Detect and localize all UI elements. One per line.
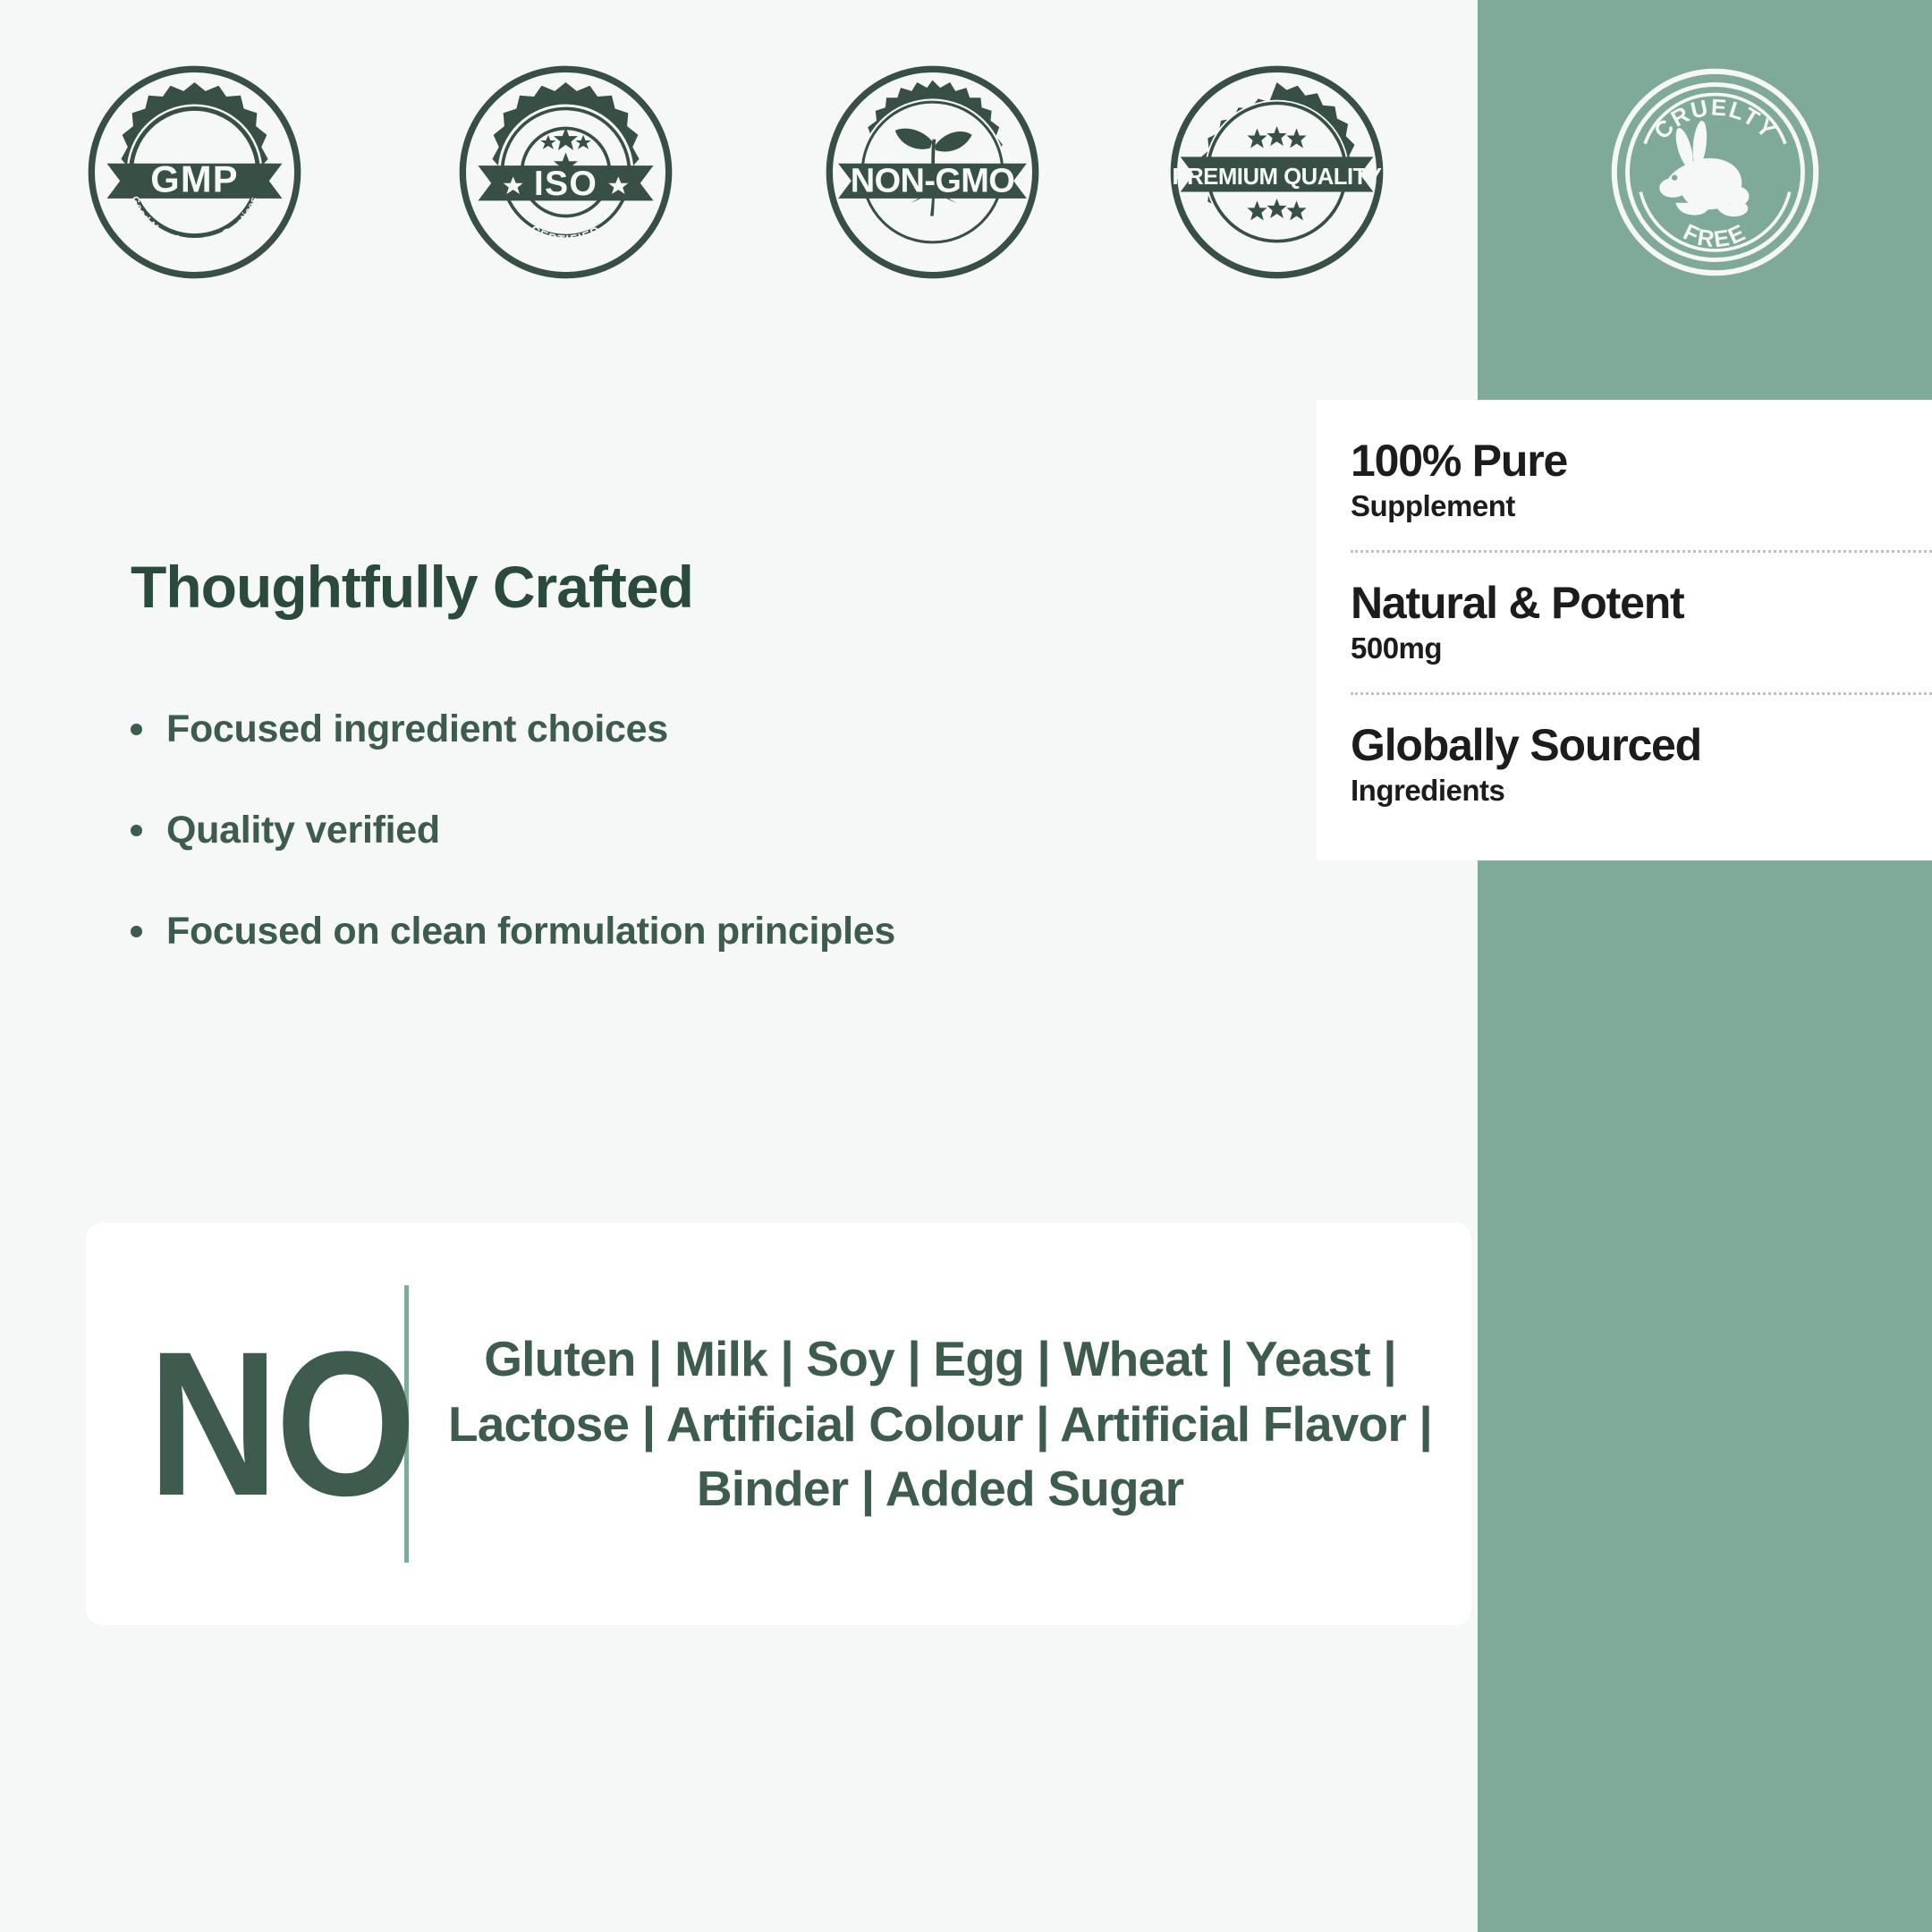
svg-text:CERTIFIED: CERTIFIED	[155, 208, 234, 223]
highlight-block-potency: Natural & Potent 500mg	[1351, 580, 1932, 665]
highlight-block-purity: 100% Pure Supplement	[1351, 437, 1932, 523]
highlight-title: Globally Sourced	[1351, 722, 1907, 769]
list-item-label: Quality verified	[166, 809, 440, 852]
page-title: Thoughtfully Crafted	[131, 555, 1383, 620]
iso-certified-seal-icon: ISO CERTIFIED	[456, 63, 675, 282]
badge-iso: ISO CERTIFIED	[456, 63, 675, 282]
cruelty-free-rabbit-seal-icon: CRUELTY FREE	[1606, 63, 1825, 282]
main-content-left: Thoughtfully Crafted Focused ingredient …	[131, 555, 1383, 1011]
svg-text:NON-GMO: NON-GMO	[851, 163, 1014, 200]
highlight-divider	[1351, 692, 1932, 695]
product-highlights-card: 100% Pure Supplement Natural & Potent 50…	[1317, 400, 1932, 860]
highlight-subtitle: Supplement	[1351, 488, 1907, 524]
certification-badge-row: GMP CERTIFIED Good Manufacturing Practic…	[0, 63, 1932, 295]
badge-gmp: GMP CERTIFIED Good Manufacturing Practic…	[85, 63, 304, 282]
premium-quality-seal-icon: PREMIUM QUALITY	[1167, 63, 1386, 282]
list-item-label: Focused on clean formulation principles	[166, 910, 895, 953]
list-item-label: Focused ingredient choices	[166, 708, 668, 751]
highlight-divider	[1351, 550, 1932, 553]
badge-non-gmo: NON-GMO	[823, 63, 1042, 282]
list-item: Quality verified	[131, 809, 1383, 852]
highlight-block-sourcing: Globally Sourced Ingredients	[1351, 722, 1932, 808]
excluded-ingredients-list: Gluten | Milk | Soy | Egg | Wheat | Yeas…	[409, 1326, 1471, 1521]
free-from-card: NO Gluten | Milk | Soy | Egg | Wheat | Y…	[86, 1223, 1471, 1625]
bullet-dot-icon	[131, 724, 142, 735]
svg-text:ISO: ISO	[534, 165, 597, 203]
highlight-title: Natural & Potent	[1351, 580, 1907, 627]
highlight-title: 100% Pure	[1351, 437, 1907, 485]
svg-text:PREMIUM QUALITY: PREMIUM QUALITY	[1172, 165, 1381, 190]
badge-premium-quality: PREMIUM QUALITY	[1167, 63, 1386, 282]
bullet-dot-icon	[131, 825, 142, 836]
non-gmo-sprout-seal-icon: NON-GMO	[823, 63, 1042, 282]
highlight-subtitle: 500mg	[1351, 631, 1907, 666]
feature-bullet-list: Focused ingredient choices Quality verif…	[131, 708, 1383, 953]
svg-text:CRUELTY: CRUELTY	[1649, 95, 1781, 144]
svg-text:GMP: GMP	[150, 158, 239, 200]
bullet-dot-icon	[131, 926, 142, 937]
no-word-label: NO	[148, 1334, 376, 1514]
highlight-subtitle: Ingredients	[1351, 773, 1907, 809]
gmp-certified-seal-icon: GMP CERTIFIED Good Manufacturing Practic…	[85, 63, 304, 282]
badge-cruelty-free: CRUELTY FREE	[1606, 63, 1825, 282]
list-item: Focused on clean formulation principles	[131, 910, 1383, 953]
list-item: Focused ingredient choices	[131, 708, 1383, 751]
